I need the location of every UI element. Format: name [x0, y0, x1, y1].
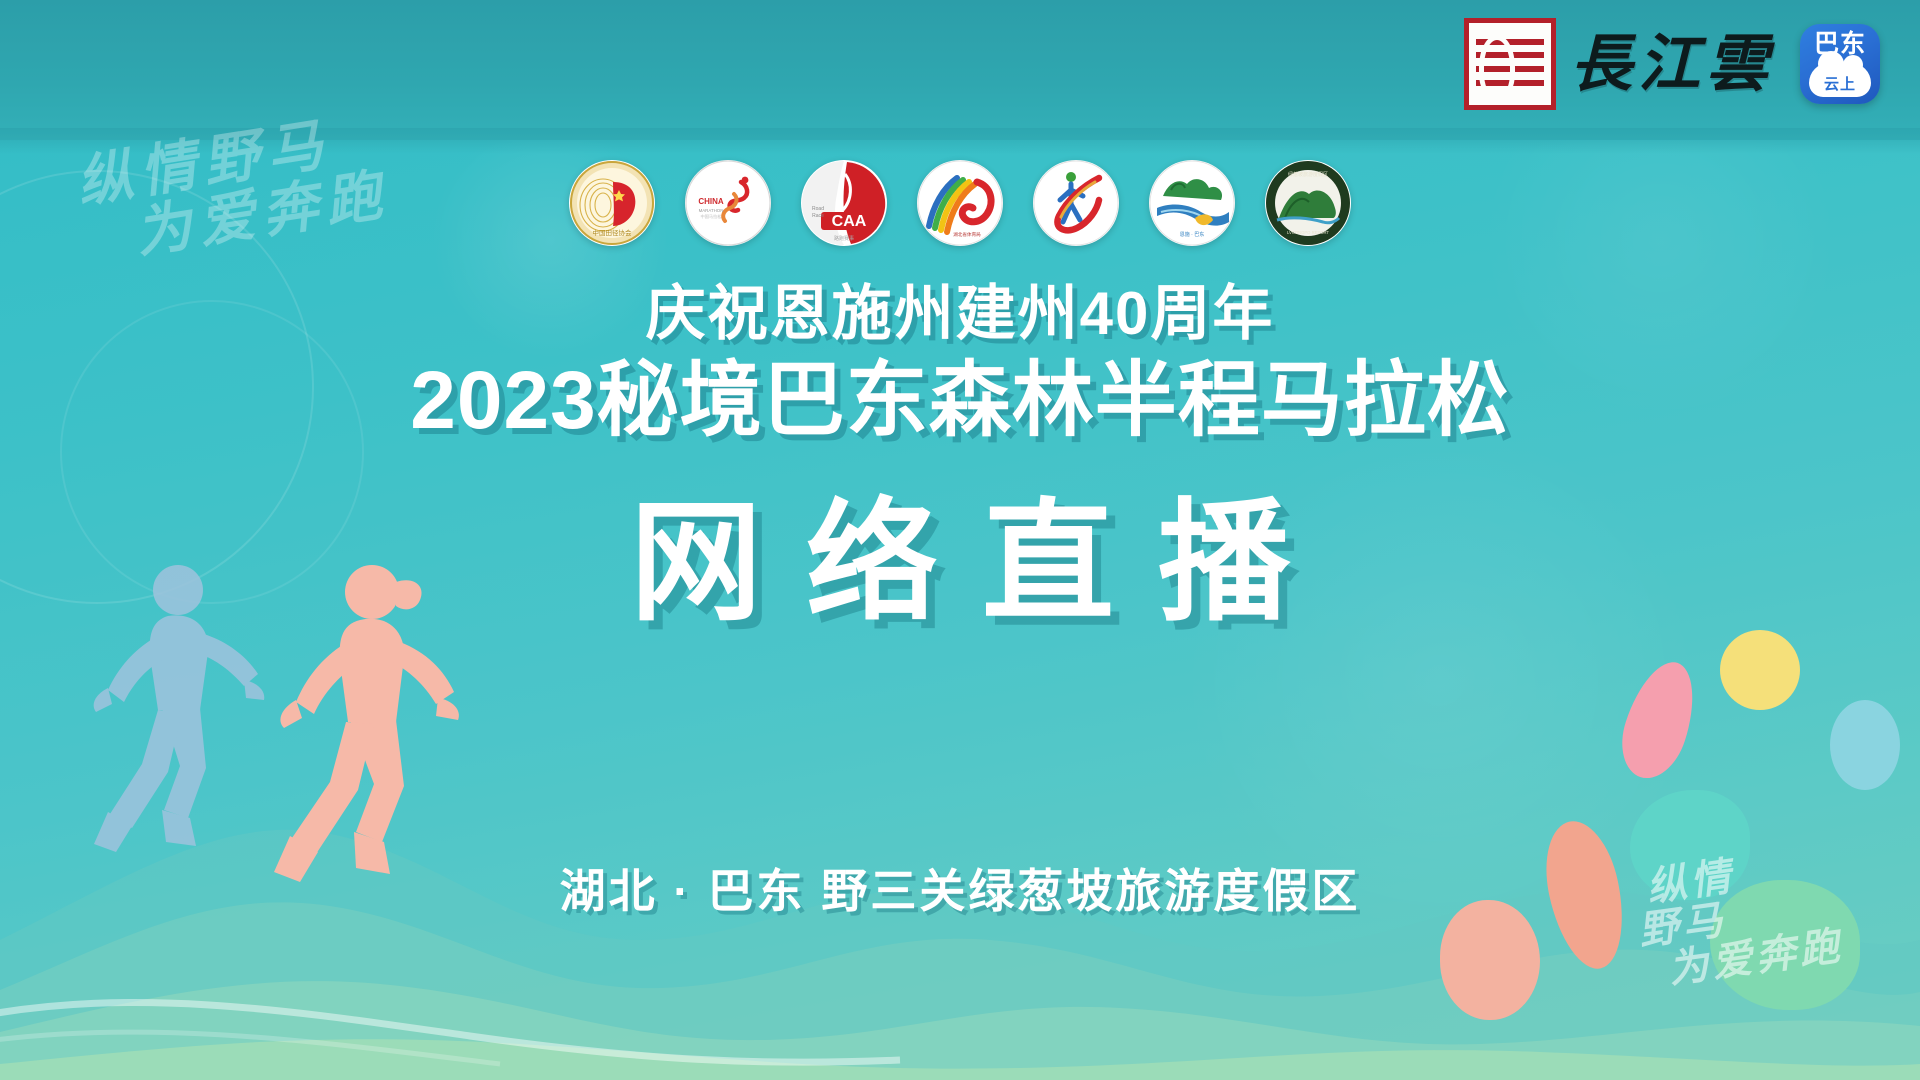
changjiang-yun-seal-icon — [1464, 18, 1556, 110]
svg-text:湖北省体育局: 湖北省体育局 — [953, 231, 981, 238]
badong-app-icon[interactable]: 巴东 云上 — [1800, 24, 1880, 104]
svg-text:Race: Race — [812, 213, 824, 219]
badge-badong-tourism[interactable]: 恩施 · 巴东 — [1149, 160, 1235, 246]
svg-text:LVCONGPO RESORT: LVCONGPO RESORT — [1287, 230, 1329, 235]
badong-app-cloud-label: 云上 — [1800, 73, 1880, 94]
title-line-live-stream: 网络直播 — [44, 480, 1920, 645]
badge-caa-road-race[interactable]: CAA Road Race 路跑赛事 — [801, 160, 887, 246]
badge-hubei-sports-bureau[interactable]: 湖北省体育局 — [917, 160, 1003, 246]
enshi-sports-emblem — [1033, 160, 1119, 246]
poster-canvas: 長江雲 巴东 云上 中国田径协会 CHINESE ATHLETICS AS — [0, 0, 1920, 1080]
organizer-badge-row: 中国田径协会 CHINESE ATHLETICS ASSOCIATION CHI… — [0, 160, 1920, 246]
badge-lvcongpo-resort[interactable]: 绿葱坡旅游度假区 LVCONGPO RESORT — [1265, 160, 1351, 246]
svg-text:CHINA: CHINA — [698, 197, 724, 206]
changjiang-yun-logo[interactable]: 長江雲 — [1464, 18, 1774, 110]
footer-location: 湖北 · 巴东 野三关绿葱坡旅游度假区 — [0, 855, 1920, 921]
svg-text:恩施 · 巴东: 恩施 · 巴东 — [1180, 231, 1204, 238]
header-band-fade — [0, 128, 1920, 154]
title-line-anniversary: 庆祝恩施州建州40周年 — [0, 280, 1920, 347]
svg-text:路跑赛事: 路跑赛事 — [834, 235, 854, 242]
badge-enshi-sports[interactable] — [1033, 160, 1119, 246]
title-line-event-name: 2023秘境巴东森林半程马拉松 — [0, 353, 1920, 450]
changjiang-yun-wordmark: 長江雲 — [1570, 33, 1774, 95]
badong-app-icon-label: 巴东 — [1800, 32, 1880, 57]
title-block: 庆祝恩施州建州40周年 2023秘境巴东森林半程马拉松 网络直播 — [0, 280, 1920, 645]
svg-text:中国马拉松: 中国马拉松 — [701, 213, 722, 220]
badong-tourism-emblem: 恩施 · 巴东 — [1149, 160, 1235, 246]
lvcongpo-resort-emblem: 绿葱坡旅游度假区 LVCONGPO RESORT — [1265, 160, 1351, 246]
svg-text:MARATHON: MARATHON — [699, 208, 724, 213]
caa-road-race-emblem: CAA Road Race 路跑赛事 — [801, 160, 887, 246]
badge-chinese-athletics-association[interactable]: 中国田径协会 CHINESE ATHLETICS ASSOCIATION — [569, 160, 655, 246]
svg-text:绿葱坡旅游度假区: 绿葱坡旅游度假区 — [1288, 171, 1328, 178]
hubei-sports-bureau-emblem: 湖北省体育局 — [917, 160, 1003, 246]
svg-text:Road: Road — [812, 206, 824, 212]
svg-text:中国田径协会: 中国田径协会 — [593, 228, 633, 237]
china-marathon-emblem: CHINA MARATHON 中国马拉松 — [685, 160, 771, 246]
svg-text:CAA: CAA — [832, 213, 867, 230]
badge-china-marathon[interactable]: CHINA MARATHON 中国马拉松 — [685, 160, 771, 246]
chinese-athletics-association-emblem: 中国田径协会 — [569, 160, 655, 246]
header-logos: 長江雲 巴东 云上 — [1464, 18, 1880, 110]
decor-blob-lightblue — [1830, 700, 1900, 790]
